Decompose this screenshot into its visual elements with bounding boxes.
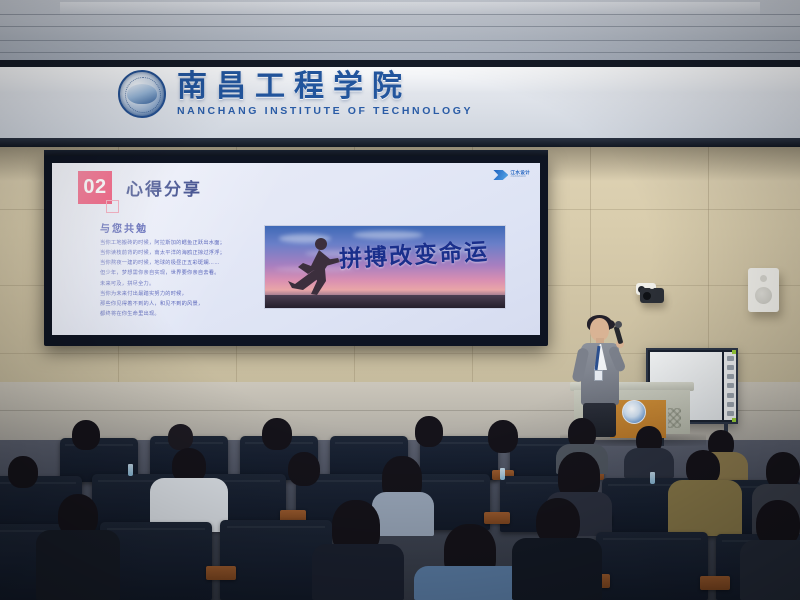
slide-body-line: 未来可及，拼尽全力。	[100, 279, 265, 289]
whiteboard-tool-icon[interactable]	[727, 356, 734, 361]
corporate-logo-english: JIANGSHUI	[510, 176, 530, 179]
whiteboard-tool-icon[interactable]	[727, 411, 734, 416]
auditorium-photo: 南昌工程学院 NANCHANG INSTITUTE OF TECHNOLOGY	[0, 0, 800, 600]
corporate-logo: 江水设计 JIANGSHUI	[493, 170, 530, 180]
ceiling	[0, 0, 800, 60]
auditorium-seat	[596, 532, 708, 600]
runner-sunset-photo: 拼搏改变命运	[264, 225, 506, 309]
slide-title: 心得分享	[126, 175, 202, 200]
slide-body-line: 都终将在你生命里出现。	[100, 309, 265, 319]
whiteboard-tool-icon[interactable]	[727, 374, 734, 379]
whiteboard-tool-icon[interactable]	[727, 393, 734, 398]
photo-caption-calligraphy: 拼搏改变命运	[338, 232, 490, 274]
runner-silhouette-icon	[281, 236, 345, 298]
slide-body-line: 当你熬夜一建的时候，地球的极昼正五彩斑斓……	[100, 258, 265, 268]
microphone-head	[615, 321, 622, 328]
whiteboard-corner-marker	[732, 350, 736, 354]
corporate-mark-icon	[493, 170, 508, 180]
slide-badge-accent	[106, 200, 119, 213]
slide-body-text: 当你工地搬砖的时候，阿拉斯加的鳕鱼正跃出水面； 当你读枝前背的时候，南太平洋的海…	[100, 238, 265, 319]
nanchang-institute-emblem-icon	[118, 70, 166, 118]
sign-english-name: NANCHANG INSTITUTE OF TECHNOLOGY	[177, 105, 473, 117]
institution-sign: 南昌工程学院 NANCHANG INSTITUTE OF TECHNOLOGY	[118, 70, 473, 118]
slide-body-line: 那些你见得着不到的人，和见不到的风景，	[100, 299, 265, 309]
whiteboard-tool-icon[interactable]	[727, 383, 734, 388]
whiteboard-toolbar[interactable]	[724, 352, 736, 420]
fascia-underside	[0, 138, 800, 147]
whiteboard-tool-icon[interactable]	[727, 365, 734, 370]
whiteboard-tool-icon[interactable]	[727, 402, 734, 407]
slide-subtitle: 与您共勉	[100, 220, 148, 235]
microphone-icon	[614, 326, 624, 345]
wall-camera-center	[640, 288, 664, 303]
wall-speaker	[748, 268, 779, 312]
slide-body-line: 当你为未来付出最踏实努力的时候，	[100, 289, 265, 299]
slide-body-line: 当你工地搬砖的时候，阿拉斯加的鳕鱼正跃出水面；	[100, 238, 265, 248]
presenter-id-badge	[594, 370, 603, 381]
slide-body-line: 当你读枝前背的时候，南太平洋的海鸥正掠过浮浮；	[100, 248, 265, 258]
whiteboard-corner-marker	[732, 418, 736, 422]
presentation-slide: 02 心得分享 江水设计 JIANGSHUI 与您共勉 当你工地搬砖的时候，阿拉…	[52, 163, 540, 335]
slide-body-line: 但少年，梦想需你亲自实现，世界要你亲自去看。	[100, 268, 265, 278]
lectern-pattern-right	[668, 408, 681, 428]
sign-chinese-name: 南昌工程学院	[177, 71, 473, 103]
